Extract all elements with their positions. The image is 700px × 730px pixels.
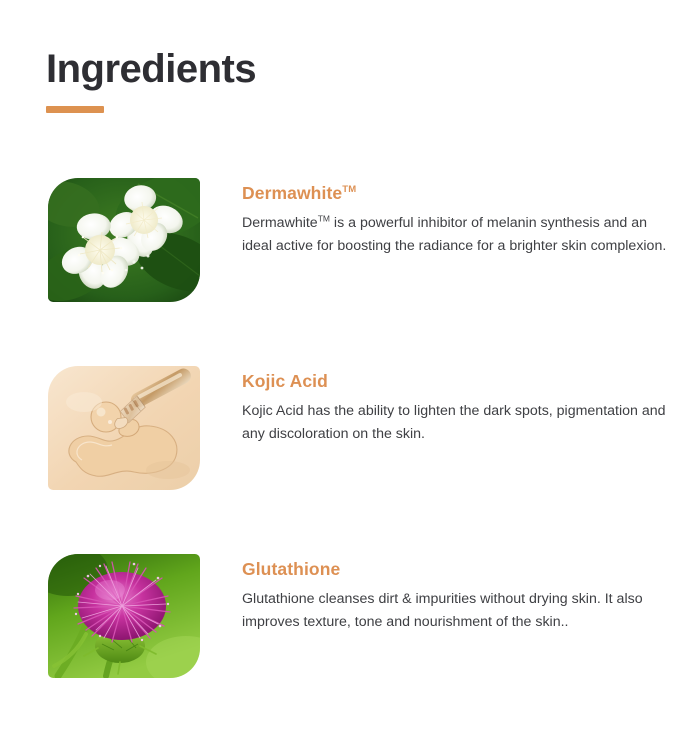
ingredient-text-column: DermawhiteTM DermawhiteTM is a powerful … — [200, 166, 674, 258]
ingredient-description: DermawhiteTM is a powerful inhibitor of … — [242, 212, 674, 258]
ingredient-thumbnail-wrap — [48, 366, 200, 490]
ingredient-item-kojic-acid: Kojic Acid Kojic Acid has the ability to… — [0, 354, 700, 490]
ingredient-name: Kojic Acid — [242, 372, 674, 391]
ingredient-list: DermawhiteTM DermawhiteTM is a powerful … — [0, 166, 700, 730]
description-body: Glutathione cleanses dirt & impurities w… — [242, 591, 643, 630]
milk-thistle-flower-photo — [48, 554, 200, 678]
trademark-symbol-inline: TM — [318, 214, 330, 224]
guava-flower-photo — [48, 178, 200, 302]
ingredient-name: Glutathione — [242, 560, 674, 579]
ingredient-thumbnail-wrap — [48, 178, 200, 302]
ingredient-text-column: Glutathione Glutathione cleanses dirt & … — [200, 542, 674, 634]
ingredient-item-glutathione: Glutathione Glutathione cleanses dirt & … — [0, 542, 700, 678]
ingredient-name-text: Kojic Acid — [242, 371, 328, 391]
ingredient-description: Glutathione cleanses dirt & impurities w… — [242, 588, 674, 634]
ingredient-name-text: Dermawhite — [242, 183, 342, 203]
ingredient-text-column: Kojic Acid Kojic Acid has the ability to… — [200, 354, 674, 446]
ingredient-item-dermawhite: DermawhiteTM DermawhiteTM is a powerful … — [0, 166, 700, 302]
ingredients-page: Ingredients — [0, 0, 700, 700]
ingredient-name-text: Glutathione — [242, 559, 340, 579]
serum-dropper-photo — [48, 366, 200, 490]
trademark-symbol: TM — [342, 184, 356, 195]
ingredient-description: Kojic Acid has the ability to lighten th… — [242, 400, 674, 446]
ingredient-name: DermawhiteTM — [242, 184, 674, 203]
page-title: Ingredients — [46, 48, 646, 90]
description-body: Kojic Acid has the ability to lighten th… — [242, 403, 666, 442]
ingredient-thumbnail-wrap — [48, 554, 200, 678]
page-header: Ingredients — [46, 48, 646, 113]
title-underline-rule — [46, 106, 104, 113]
description-lead: Dermawhite — [242, 215, 318, 231]
